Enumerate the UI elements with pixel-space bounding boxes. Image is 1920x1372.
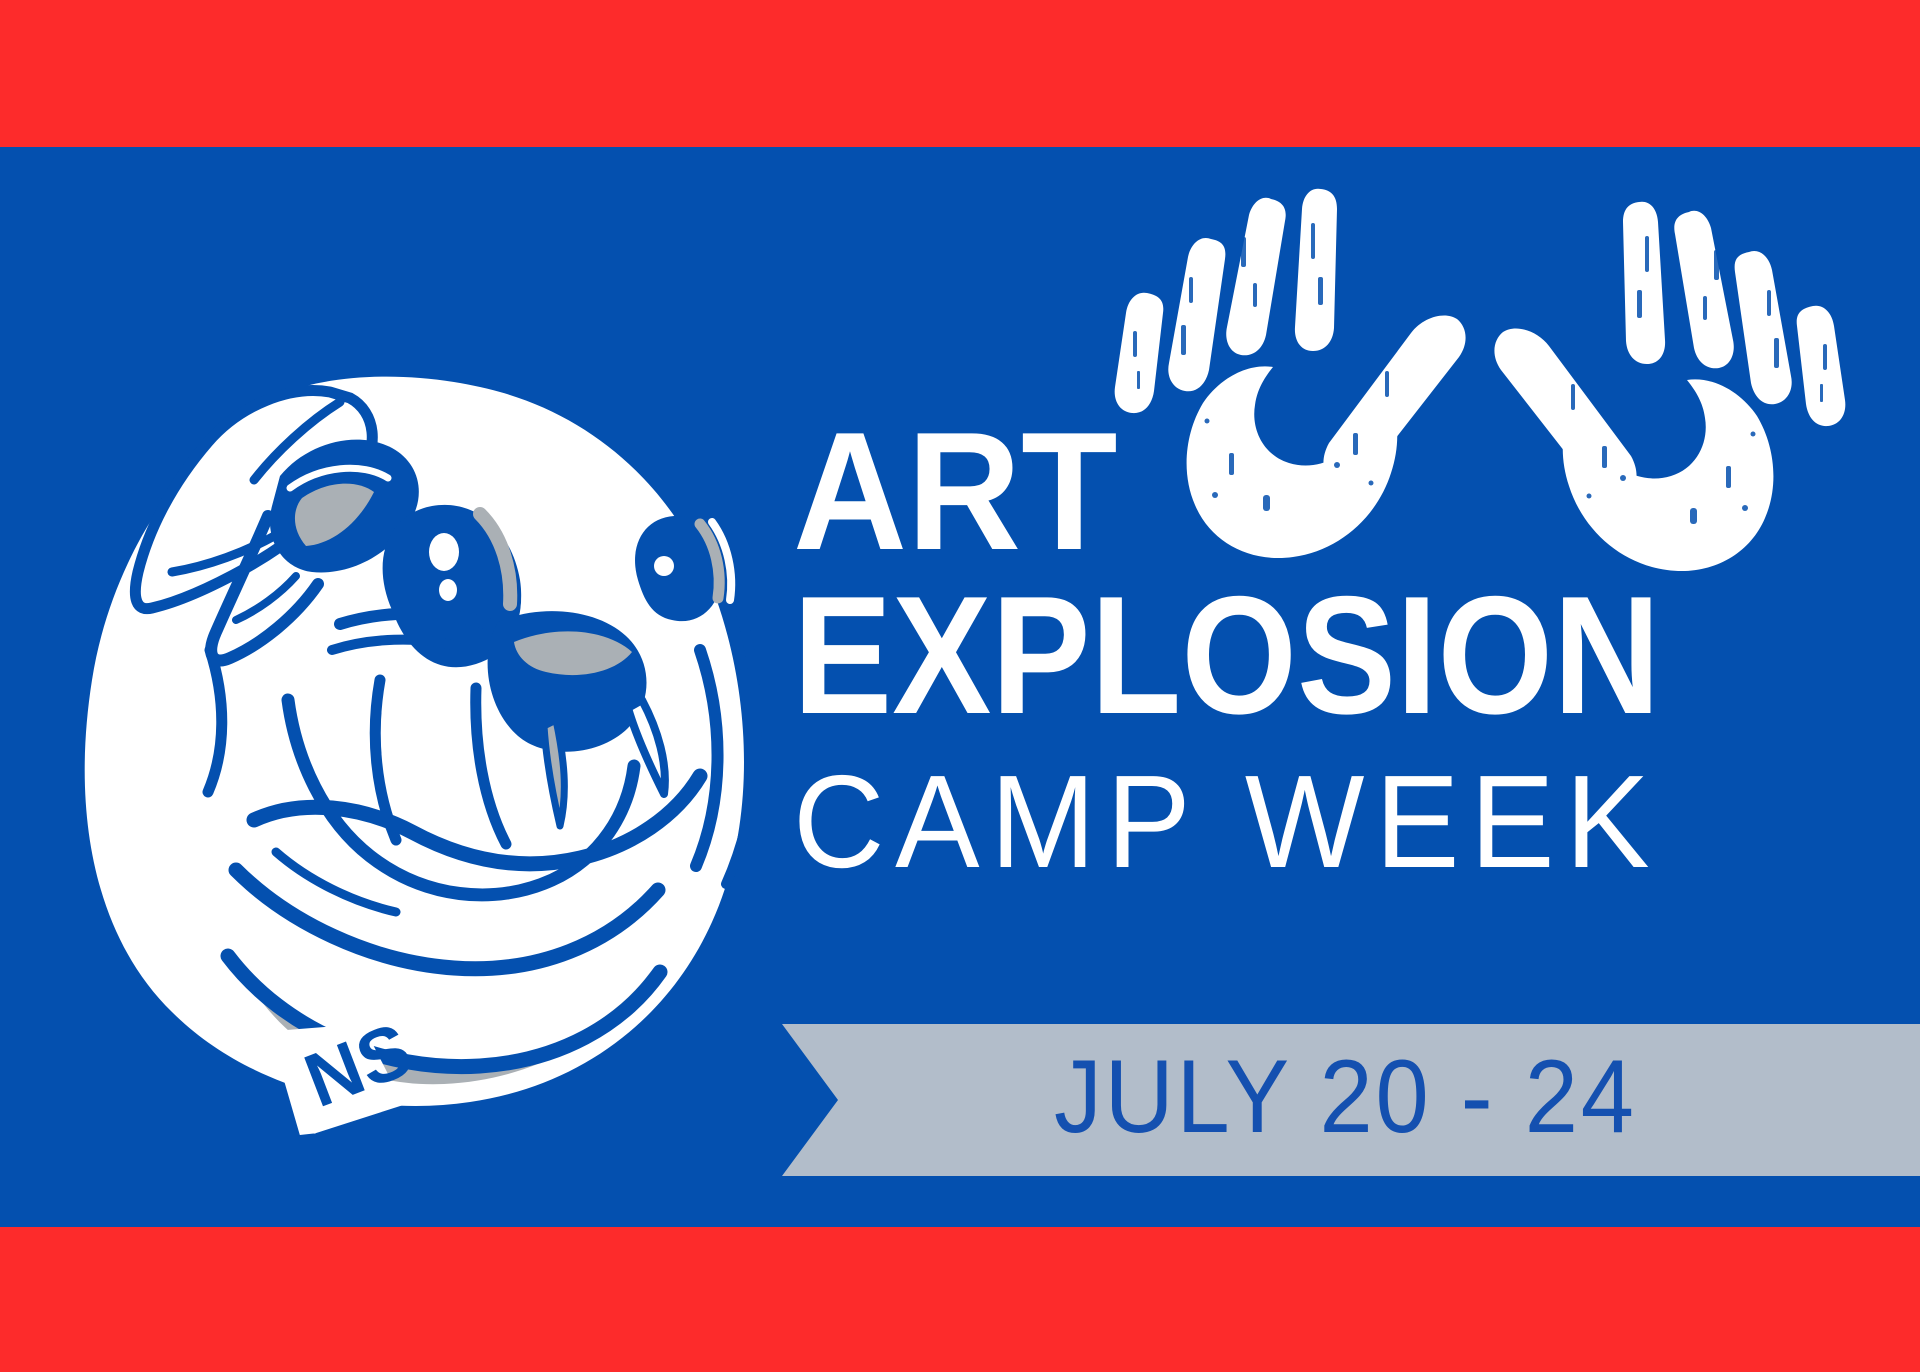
date-ribbon-banner: JULY 20 - 24 (782, 1024, 1920, 1176)
headline-subtitle-camp-week: CAMP WEEK (793, 756, 1859, 888)
headline-line-art: ART (793, 418, 1836, 566)
headline-line-explosion: EXPLOSION (793, 582, 1775, 730)
top-red-band (0, 0, 1920, 147)
event-date-text: JULY 20 - 24 (1054, 1045, 1637, 1155)
bulldog-mascot: NS (40, 180, 820, 1180)
headline-block: ART EXPLOSION CAMP WEEK (793, 418, 1903, 888)
poster-canvas: NS (0, 0, 1920, 1372)
bottom-red-band (0, 1227, 1920, 1372)
